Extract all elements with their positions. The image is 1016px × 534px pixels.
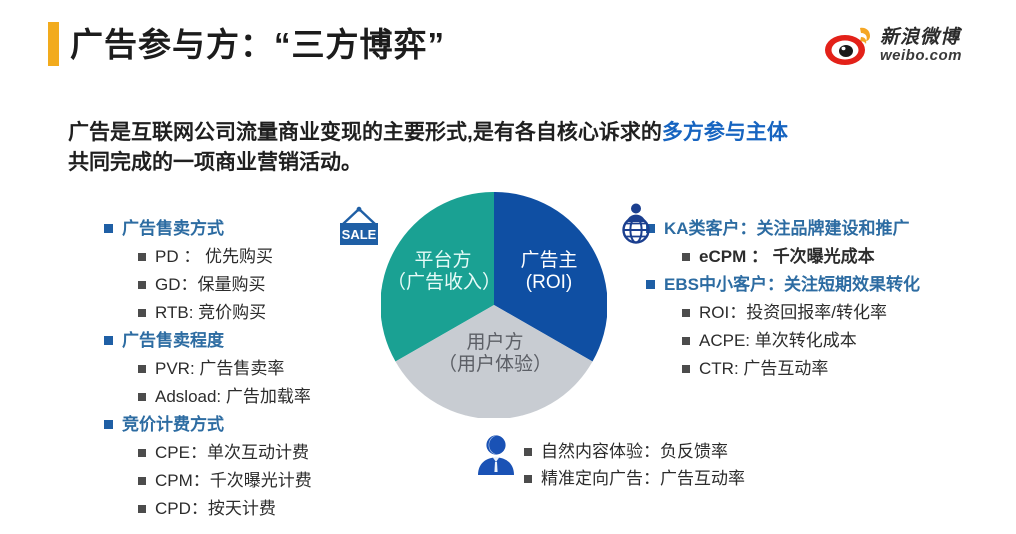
right-item-text: ACPE: 单次转化成本 <box>699 326 857 351</box>
right-heading-strong: EBS中小客户 <box>664 275 767 294</box>
right-item-text: ROI：投资回报率/转化率 <box>699 298 887 323</box>
right-group-heading-1: EBS中小客户：关注短期效果转化 <box>646 270 920 295</box>
square-bullet-icon <box>138 505 146 513</box>
right-item: ROI：投资回报率/转化率 <box>682 298 920 323</box>
left-group-heading-text: 广告售卖方式 <box>122 214 224 239</box>
square-bullet-icon <box>138 309 146 317</box>
left-item-text: CPD：按天计费 <box>155 494 276 519</box>
right-item: eCPM ： 千次曝光成本 <box>682 242 920 267</box>
square-bullet-icon <box>138 281 146 289</box>
left-item-text: CPE：单次互动计费 <box>155 438 309 463</box>
pie-svg <box>381 192 607 418</box>
left-group-heading-2: 竞价计费方式 <box>104 410 312 435</box>
subtitle-part1: 广告是互联网公司流量商业变现的主要形式,是有各自核心诉求的 <box>68 121 662 144</box>
subtitle-paragraph: 广告是互联网公司流量商业变现的主要形式,是有各自核心诉求的多方参与主体 共同完成… <box>68 118 948 178</box>
right-item-text: CTR: 广告互动率 <box>699 354 828 379</box>
left-item: PD ： 优先购买 <box>138 242 312 267</box>
right-item: CTR: 广告互动率 <box>682 354 920 379</box>
left-item-text: RTB: 竞价购买 <box>155 298 266 323</box>
left-group-heading-text: 竞价计费方式 <box>122 410 224 435</box>
bottom-bullet-column: 自然内容体验：负反馈率 精准定向广告：广告互动率 <box>524 437 745 491</box>
right-heading-rest: ：关注短期效果转化 <box>767 275 920 294</box>
left-item-text: GD：保量购买 <box>155 270 266 295</box>
bottom-item-text: 自然内容体验：负反馈率 <box>541 437 728 462</box>
weibo-name-cn: 新浪微博 <box>880 28 962 48</box>
square-bullet-icon <box>682 253 690 261</box>
globe-person-icon <box>614 202 658 244</box>
page-title: 广告参与方：“三方博弈” <box>70 18 445 66</box>
left-item-text: PD ： 优先购买 <box>155 242 273 267</box>
left-item-text: PVR: 广告售卖率 <box>155 354 284 379</box>
left-group-heading-1: 广告售卖程度 <box>104 326 312 351</box>
square-bullet-icon <box>682 337 690 345</box>
left-item-text: Adsload: 广告加载率 <box>155 382 311 407</box>
right-group-heading-text: EBS中小客户：关注短期效果转化 <box>664 270 920 295</box>
left-item: CPE：单次互动计费 <box>138 438 312 463</box>
left-group-heading-0: 广告售卖方式 <box>104 214 312 239</box>
square-bullet-icon <box>138 477 146 485</box>
square-bullet-icon <box>682 309 690 317</box>
title-accent-bar <box>48 22 59 66</box>
left-item: PVR: 广告售卖率 <box>138 354 312 379</box>
right-item: ACPE: 单次转化成本 <box>682 326 920 351</box>
right-group-heading-0: KA类客户：关注品牌建设和推广 <box>646 214 920 239</box>
square-bullet-icon <box>138 449 146 457</box>
left-item: CPM：千次曝光计费 <box>138 466 312 491</box>
three-party-pie-chart: 平台方 （广告收入） 广告主 (ROI) 用户方 （用户体验） <box>381 192 607 418</box>
left-group-heading-text: 广告售卖程度 <box>122 326 224 351</box>
right-bullet-column: KA类客户：关注品牌建设和推广 eCPM ： 千次曝光成本 EBS中小客户：关注… <box>646 214 920 382</box>
weibo-logo: 新浪微博 weibo.com <box>824 22 992 70</box>
square-bullet-icon <box>138 253 146 261</box>
bottom-item: 自然内容体验：负反馈率 <box>524 437 745 462</box>
right-group-heading-text: KA类客户：关注品牌建设和推广 <box>664 214 910 239</box>
sale-sign-text: SALE <box>342 227 377 242</box>
left-item-text: CPM：千次曝光计费 <box>155 466 312 491</box>
sale-sign-icon: SALE <box>336 206 382 248</box>
person-bust-icon <box>474 432 518 476</box>
bottom-item-text: 精准定向广告：广告互动率 <box>541 464 745 489</box>
bottom-item: 精准定向广告：广告互动率 <box>524 464 745 489</box>
square-bullet-icon <box>646 280 655 289</box>
left-item: Adsload: 广告加载率 <box>138 382 312 407</box>
slide-header: 广告参与方：“三方博弈” 新浪微博 weibo.com <box>0 0 1016 88</box>
slide-canvas: 广告参与方：“三方博弈” 新浪微博 weibo.com 广告是互联网公司流量商业… <box>0 0 1016 534</box>
square-bullet-icon <box>524 475 532 483</box>
weibo-wordmark: 新浪微博 weibo.com <box>880 28 962 64</box>
subtitle-part2: 共同完成的一项商业营销活动。 <box>68 151 362 174</box>
right-item-text: eCPM ： 千次曝光成本 <box>699 242 875 267</box>
left-bullet-column: 广告售卖方式 PD ： 优先购买 GD：保量购买 RTB: 竞价购买 广告售卖程… <box>104 214 312 522</box>
square-bullet-icon <box>138 393 146 401</box>
weibo-url: weibo.com <box>880 48 962 64</box>
subtitle-highlight: 多方参与主体 <box>662 121 788 144</box>
left-item: GD：保量购买 <box>138 270 312 295</box>
left-item: CPD：按天计费 <box>138 494 312 519</box>
square-bullet-icon <box>104 224 113 233</box>
square-bullet-icon <box>104 336 113 345</box>
square-bullet-icon <box>138 365 146 373</box>
left-item: RTB: 竞价购买 <box>138 298 312 323</box>
square-bullet-icon <box>524 448 532 456</box>
square-bullet-icon <box>104 420 113 429</box>
square-bullet-icon <box>682 365 690 373</box>
weibo-eye-icon <box>824 24 874 68</box>
